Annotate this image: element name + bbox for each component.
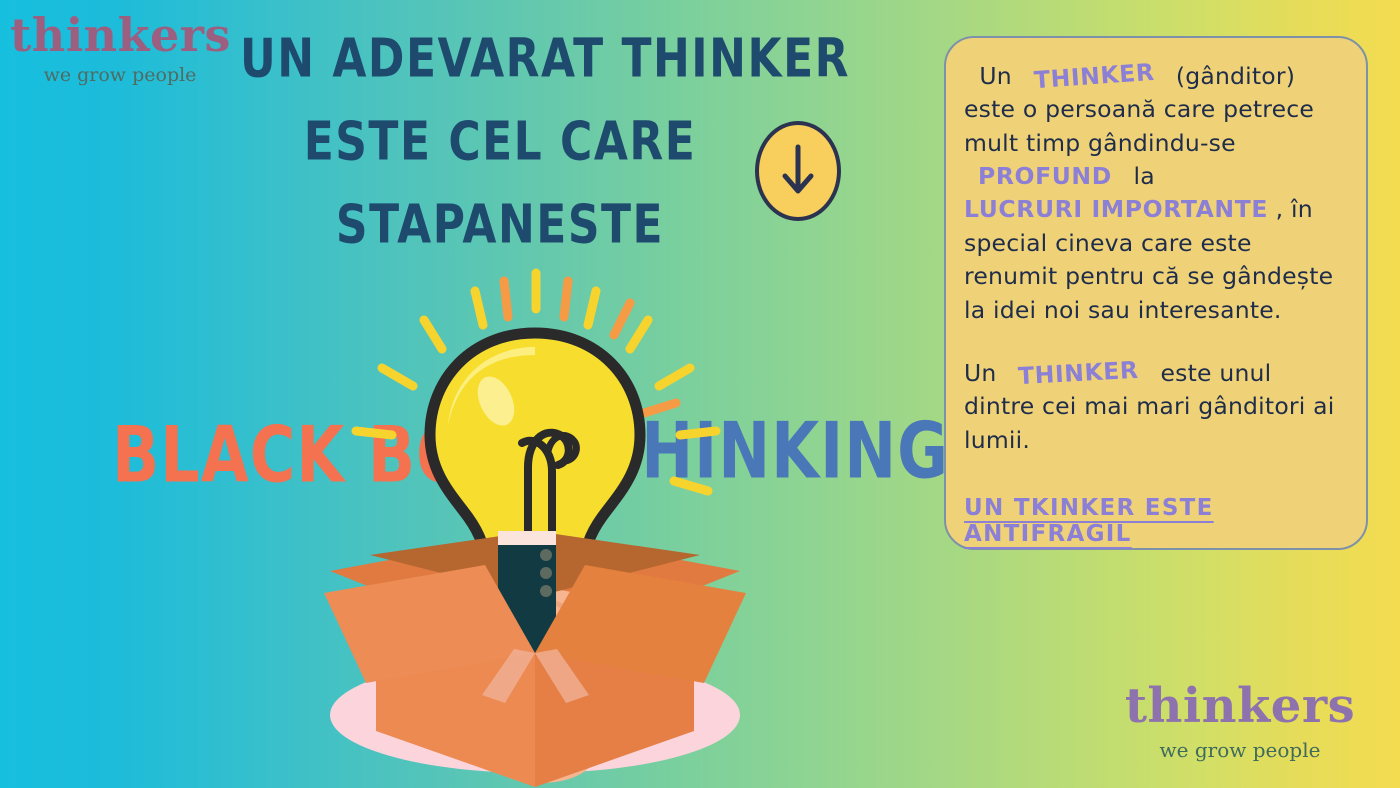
brand-wordmark: thinkers (1110, 682, 1370, 730)
p1-seg-1: Un (979, 62, 1012, 90)
brand-logo-top: thinkers we grow people (10, 12, 230, 85)
p1-highlight-lucruri-importante: LUCRURI IMPORTANTE (964, 193, 1268, 226)
arrow-down-badge (755, 121, 841, 221)
card-paragraph-1: Un THINKER (gânditor) este o persoană ca… (964, 60, 1344, 327)
info-card: Un THINKER (gânditor) este o persoană ca… (944, 36, 1368, 550)
p1-highlight-thinker: THINKER (1032, 56, 1155, 98)
brand-logo-bottom: thinkers we grow people (1110, 682, 1370, 760)
brand-tagline: we grow people (1110, 740, 1370, 760)
arrow-down-icon (778, 141, 818, 201)
headline-line-1: UN ADEVARAT THINKER (240, 18, 760, 101)
p1-seg-3: la (1133, 162, 1154, 190)
card-paragraph-2: Un THINKER este unul dintre cei mai mari… (964, 357, 1344, 457)
p2-seg-1: Un (964, 359, 997, 387)
poster-canvas: thinkers we grow people UN ADEVARAT THIN… (0, 0, 1400, 788)
brand-wordmark: thinkers (10, 12, 230, 58)
p2-highlight-thinker: THINKER (1017, 354, 1139, 394)
antifragil-link[interactable]: UN TKINKER ESTE ANTIFRAGIL (964, 495, 1344, 547)
page-title: UN ADEVARAT THINKER ESTE CEL CARE STAPAN… (240, 18, 760, 268)
p1-highlight-profund: PROFUND (978, 160, 1112, 193)
illustration-hand-lightbulb-box (300, 255, 770, 788)
headline-line-2: ESTE CEL CARE (240, 101, 760, 184)
brand-tagline: we grow people (10, 66, 230, 85)
